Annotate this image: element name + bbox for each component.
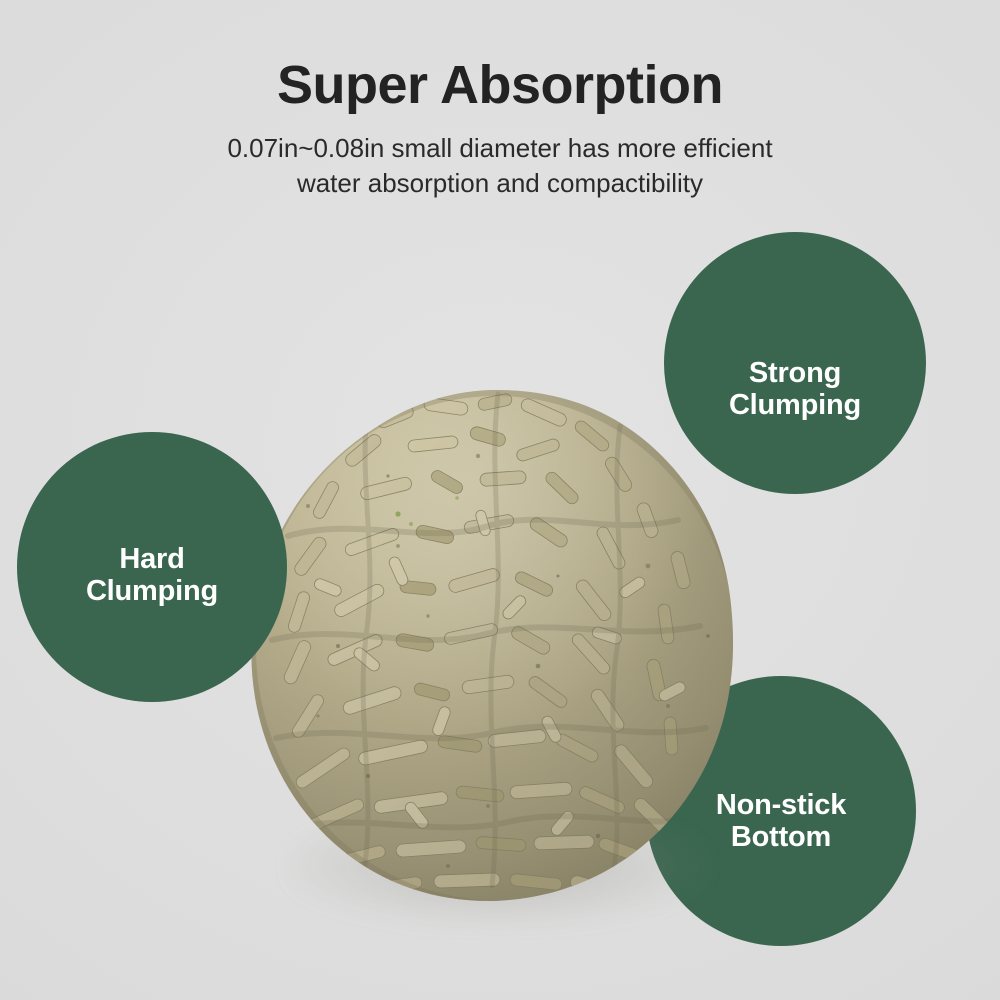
product-image [248,386,744,908]
badge-strong-clumping-text: Strong Clumping [729,357,861,422]
page-subtitle-line-2: water absorption and compactibility [0,166,1000,200]
badge-hard-clumping-text: Hard Clumping [86,543,218,608]
page-title: Super Absorption [0,0,1000,115]
infographic-canvas: Super Absorption 0.07in~0.08in small dia… [0,0,1000,1000]
badge-hard-clumping: Hard Clumping [17,432,287,702]
product-clump-illustration [248,386,744,908]
badge-strong-clumping: Strong Clumping [664,232,926,494]
badge-strong-clumping-line-2: Clumping [729,389,861,421]
page-subtitle: 0.07in~0.08in small diameter has more ef… [0,115,1000,200]
badge-hard-clumping-line-1: Hard [86,543,218,575]
badge-strong-clumping-line-1: Strong [729,357,861,389]
page-subtitle-line-1: 0.07in~0.08in small diameter has more ef… [0,131,1000,165]
badge-hard-clumping-line-2: Clumping [86,575,218,607]
header-block: Super Absorption 0.07in~0.08in small dia… [0,0,1000,200]
